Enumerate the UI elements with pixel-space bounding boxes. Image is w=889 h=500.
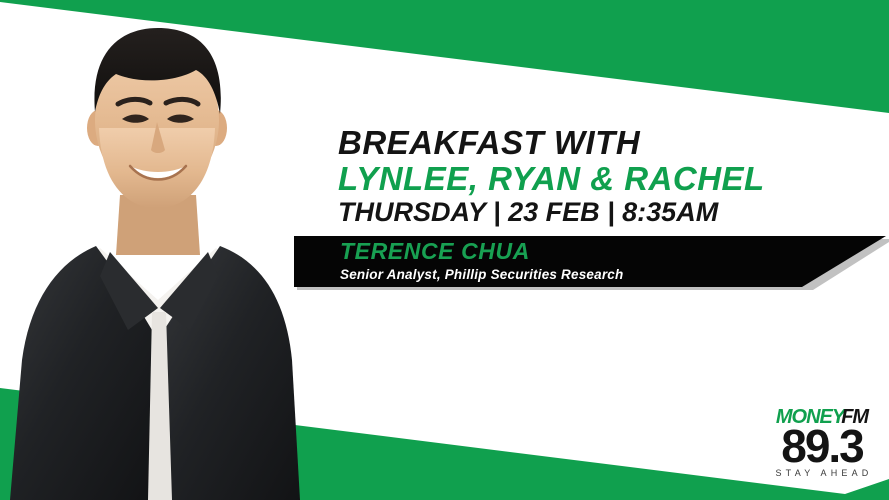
guest-role: Senior Analyst, Phillip Securities Resea… (340, 267, 623, 282)
headline-line-1: BREAKFAST WITH (338, 126, 858, 160)
promo-poster: BREAKFAST WITH LYNLEE, RYAN & RACHEL THU… (0, 0, 889, 500)
headline-block: BREAKFAST WITH LYNLEE, RYAN & RACHEL THU… (338, 126, 858, 227)
headline-line-3: THURSDAY | 23 FEB | 8:35AM (338, 199, 858, 227)
logo-tagline: STAY AHEAD (767, 468, 881, 478)
moneyfm-logo: MONEYFM 89.3 STAY AHEAD (763, 407, 881, 478)
guest-name: TERENCE CHUA (340, 239, 623, 264)
banner-text: TERENCE CHUA Senior Analyst, Phillip Sec… (340, 239, 623, 282)
logo-frequency: 89.3 (763, 425, 881, 467)
guest-photo (0, 0, 320, 500)
guest-name-banner: TERENCE CHUA Senior Analyst, Phillip Sec… (294, 234, 889, 292)
headline-line-2: LYNLEE, RYAN & RACHEL (338, 162, 858, 196)
